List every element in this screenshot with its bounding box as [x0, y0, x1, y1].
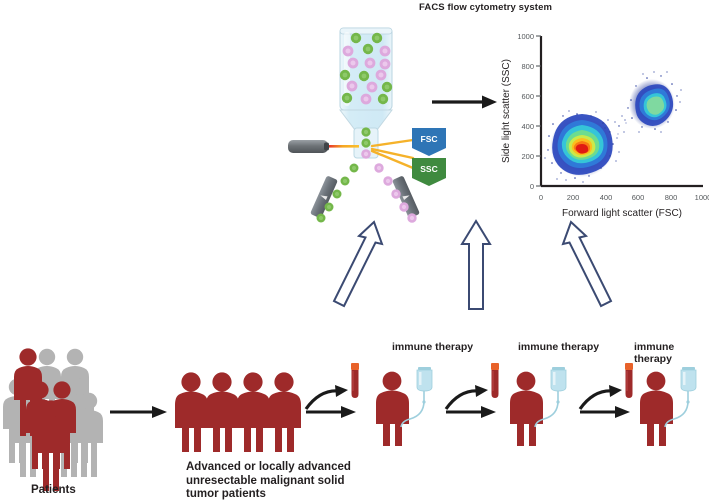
svg-text:800: 800	[521, 62, 534, 71]
blood-tube-2	[488, 363, 502, 401]
therapy-patient-1	[379, 371, 409, 444]
arrow-cohort-to-stage1	[306, 403, 358, 421]
laser-source	[288, 140, 359, 153]
blood-tube-3	[622, 363, 636, 401]
svg-text:800: 800	[665, 193, 678, 202]
deflection-plate-right	[392, 175, 420, 218]
therapy-patient-2	[513, 371, 543, 444]
arrow-stage2-to-stage3	[580, 403, 632, 421]
hollow-arrow-right	[555, 218, 615, 313]
inter-cluster-speckle	[614, 115, 626, 134]
main-population	[544, 110, 619, 182]
svg-text:0: 0	[539, 193, 543, 202]
svg-text:200: 200	[521, 152, 534, 161]
hollow-arrow-left	[330, 218, 390, 313]
sample-tube	[340, 28, 392, 158]
blood-tube-1	[348, 363, 362, 401]
svg-text:1000: 1000	[517, 32, 534, 41]
y-axis-ticks: 1000 800 600 400 200 0	[517, 32, 541, 191]
x-axis-ticks: 0 200 400 600 800 1000	[539, 193, 709, 202]
cohort-caption: Advanced or locally advanced unresectabl…	[186, 461, 351, 502]
arrow-cytometer-to-plot	[432, 92, 500, 112]
plot-axes	[541, 36, 703, 186]
iv-drip-2	[540, 366, 576, 438]
patients-label: Patients	[31, 484, 76, 496]
pink-cell-stream	[374, 163, 416, 222]
figure-title: FACS flow cytometry system	[419, 2, 552, 13]
secondary-population	[624, 71, 681, 132]
svg-text:400: 400	[521, 122, 534, 131]
svg-text:200: 200	[567, 193, 580, 202]
arrow-crowd-to-cohort	[110, 403, 170, 421]
hollow-arrow-middle	[459, 218, 493, 313]
arrow-stage1-to-stage2	[446, 403, 498, 421]
fsc-label: FSC	[421, 134, 438, 144]
svg-text:1000: 1000	[695, 193, 709, 202]
ssc-detector: SSC	[412, 158, 446, 186]
iv-drip-1	[406, 366, 442, 438]
therapy-label-3: immune therapy	[634, 341, 709, 365]
svg-text:400: 400	[600, 193, 613, 202]
svg-text:0: 0	[530, 182, 534, 191]
ssc-label: SSC	[420, 164, 437, 174]
cohort-figures	[178, 372, 302, 454]
therapy-label-2: immune therapy	[518, 341, 599, 353]
svg-text:600: 600	[521, 92, 534, 101]
y-axis-title: Side light scatter (SSC)	[501, 59, 512, 163]
iv-drip-3	[670, 366, 706, 438]
therapy-label-1: immune therapy	[392, 341, 473, 353]
fsc-detector: FSC	[412, 128, 446, 156]
deflection-plate-left	[310, 175, 338, 218]
green-cell-stream	[317, 164, 359, 223]
therapy-patient-3	[643, 371, 673, 444]
patient-crowd	[5, 348, 110, 478]
svg-text:600: 600	[632, 193, 645, 202]
flow-cytometer-illustration: FSC SSC	[280, 18, 490, 238]
facs-scatter-plot: 1000 800 600 400 200 0 0 200 400 600 800…	[495, 28, 709, 220]
